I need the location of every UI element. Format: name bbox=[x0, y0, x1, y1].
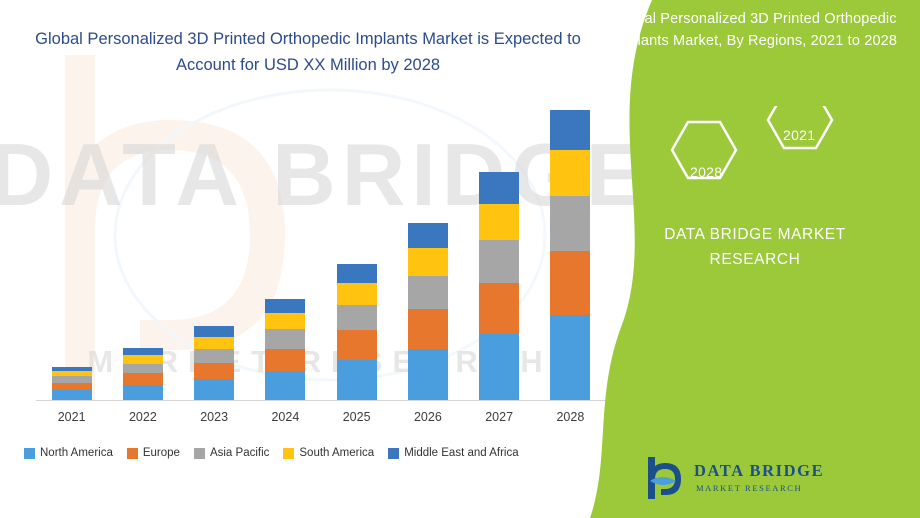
bar-group bbox=[265, 299, 305, 400]
bar-segment bbox=[550, 315, 590, 400]
right-panel: Global Personalized 3D Printed Orthopedi… bbox=[590, 0, 920, 518]
hexagon-label-2028: 2028 bbox=[690, 164, 722, 180]
legend-label: South America bbox=[299, 447, 374, 459]
hexagon-group: 2028 2021 bbox=[648, 106, 898, 196]
bar-segment bbox=[479, 240, 519, 283]
bar-segment bbox=[123, 373, 163, 385]
bar-segment bbox=[408, 309, 448, 349]
bar-segment bbox=[550, 251, 590, 315]
logo-title: DATA BRIDGE bbox=[694, 461, 824, 481]
legend-item[interactable]: Asia Pacific bbox=[194, 447, 269, 459]
bar-segment bbox=[337, 360, 377, 400]
legend-swatch bbox=[388, 448, 399, 459]
bar-segment bbox=[337, 283, 377, 304]
bar-segment bbox=[123, 385, 163, 400]
legend-swatch bbox=[24, 448, 35, 459]
chart-title: Global Personalized 3D Printed Orthopedi… bbox=[28, 26, 588, 78]
legend-label: Asia Pacific bbox=[210, 447, 269, 459]
hexagon-label-2021: 2021 bbox=[783, 127, 815, 143]
panel-brand: DATA BRIDGE MARKET RESEARCH bbox=[590, 222, 920, 272]
x-axis-tick-label: 2027 bbox=[464, 410, 534, 424]
x-axis-tick-label: 2021 bbox=[37, 410, 107, 424]
bar-segment bbox=[337, 305, 377, 331]
logo-mark-icon bbox=[642, 455, 686, 501]
bar-segment bbox=[408, 248, 448, 276]
bar-segment bbox=[265, 349, 305, 372]
bar-segment bbox=[194, 349, 234, 363]
logo: DATA BRIDGE MARKET RESEARCH bbox=[642, 455, 872, 505]
bar-segment bbox=[337, 264, 377, 283]
bar-segment bbox=[194, 363, 234, 379]
legend-item[interactable]: Europe bbox=[127, 447, 180, 459]
bar-plot bbox=[36, 100, 606, 400]
x-axis-tick-label: 2025 bbox=[322, 410, 392, 424]
bar-segment bbox=[408, 349, 448, 400]
legend-label: Middle East and Africa bbox=[404, 447, 518, 459]
bar-segment bbox=[265, 371, 305, 400]
legend-swatch bbox=[283, 448, 294, 459]
bar-segment bbox=[550, 110, 590, 151]
bar-group bbox=[194, 326, 234, 400]
logo-subtitle: MARKET RESEARCH bbox=[696, 483, 802, 493]
bar-group bbox=[550, 110, 590, 400]
bar-segment bbox=[123, 355, 163, 364]
chart-legend: North AmericaEuropeAsia PacificSouth Ame… bbox=[24, 443, 594, 463]
bar-segment bbox=[550, 150, 590, 196]
x-axis-tick-label: 2024 bbox=[250, 410, 320, 424]
bar-segment bbox=[265, 313, 305, 329]
legend-swatch bbox=[194, 448, 205, 459]
x-axis-line bbox=[36, 400, 608, 401]
x-axis-tick-label: 2022 bbox=[108, 410, 178, 424]
bar-segment bbox=[123, 348, 163, 356]
chart-area: DATA BRIDGE MARKET RESEARCH Global Perso… bbox=[0, 0, 640, 518]
panel-brand-line2: RESEARCH bbox=[590, 247, 920, 272]
bar-segment bbox=[123, 364, 163, 374]
x-axis-labels: 20212022202320242025202620272028 bbox=[36, 410, 608, 432]
bar-segment bbox=[52, 390, 92, 400]
bar-segment bbox=[194, 379, 234, 400]
bar-segment bbox=[265, 299, 305, 313]
bar-segment bbox=[479, 204, 519, 240]
bar-segment bbox=[194, 326, 234, 337]
legend-item[interactable]: North America bbox=[24, 447, 113, 459]
bar-segment bbox=[52, 383, 92, 391]
bar-group bbox=[408, 223, 448, 400]
panel-title: Global Personalized 3D Printed Orthopedi… bbox=[590, 8, 920, 52]
bar-group bbox=[337, 264, 377, 400]
bar-segment bbox=[408, 223, 448, 248]
x-axis-tick-label: 2023 bbox=[179, 410, 249, 424]
panel-brand-line1: DATA BRIDGE MARKET bbox=[590, 222, 920, 247]
legend-label: North America bbox=[40, 447, 113, 459]
bar-group bbox=[123, 348, 163, 400]
legend-label: Europe bbox=[143, 447, 180, 459]
slide-root: DATA BRIDGE MARKET RESEARCH Global Perso… bbox=[0, 0, 920, 518]
bar-segment bbox=[479, 172, 519, 204]
bar-segment bbox=[479, 283, 519, 333]
bar-segment bbox=[194, 337, 234, 349]
legend-item[interactable]: South America bbox=[283, 447, 374, 459]
bar-segment bbox=[408, 276, 448, 309]
bar-segment bbox=[337, 330, 377, 360]
bar-segment bbox=[479, 334, 519, 400]
bar-segment bbox=[550, 196, 590, 251]
legend-swatch bbox=[127, 448, 138, 459]
bar-segment bbox=[265, 329, 305, 348]
bar-group bbox=[479, 172, 519, 400]
bar-group bbox=[52, 367, 92, 400]
legend-item[interactable]: Middle East and Africa bbox=[388, 447, 518, 459]
x-axis-tick-label: 2026 bbox=[393, 410, 463, 424]
